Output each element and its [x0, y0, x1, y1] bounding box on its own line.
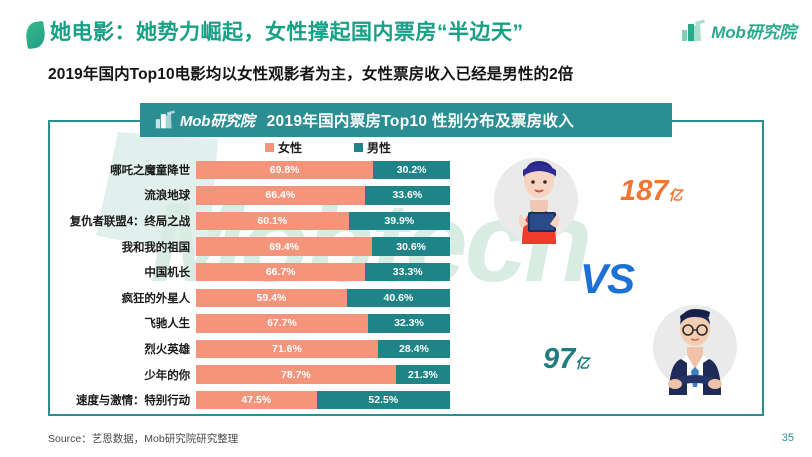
bar-segment-male: 30.2% [373, 161, 450, 180]
bar-segment-male: 40.6% [347, 289, 450, 308]
male-box-office-value: 97 [543, 343, 575, 375]
legend-label-male: 男性 [367, 139, 391, 156]
female-box-office-stat: 187亿 [620, 175, 682, 208]
page-number: 35 [782, 432, 794, 444]
bar-row-label: 复仇者联盟4：终局之战 [0, 213, 196, 229]
bar-row: 哪吒之魔童降世69.8%30.2% [0, 157, 812, 183]
banner-brand-label: Mob研究院 [180, 110, 255, 131]
bar-row-label: 烈火英雄 [0, 341, 196, 357]
bar-segment-female: 78.7% [196, 365, 396, 384]
bar-track: 66.7%33.3% [196, 263, 450, 282]
bar-row-label: 速度与激情：特别行动 [0, 392, 196, 408]
bar-segment-male: 21.3% [396, 365, 450, 384]
bar-row: 我和我的祖国69.4%30.6% [0, 234, 812, 260]
bar-row-label: 少年的你 [0, 367, 196, 383]
bar-row: 中国机长66.7%33.3% [0, 259, 812, 285]
vs-label: VS [580, 255, 634, 303]
chart-banner: Mob研究院 2019年国内票房Top10 性别分布及票房收入 [140, 103, 672, 137]
bar-row-label: 流浪地球 [0, 187, 196, 203]
page-subtitle: 2019年国内Top10电影均以女性观影者为主，女性票房收入已经是男性的2倍 [48, 62, 573, 84]
banner-connector-right [672, 120, 764, 122]
bar-segment-female: 47.5% [196, 391, 317, 410]
bar-track: 69.8%30.2% [196, 161, 450, 180]
legend-item-male: 男性 [354, 139, 391, 156]
bar-chart-graduation-cap-icon [154, 110, 176, 130]
bar-segment-male: 32.3% [368, 314, 450, 333]
bar-row: 复仇者联盟4：终局之战60.1%39.9% [0, 208, 812, 234]
chart-legend: 女性 男性 [201, 139, 455, 156]
bar-segment-male: 39.9% [349, 212, 450, 231]
bar-row: 流浪地球66.4%33.6% [0, 183, 812, 209]
bar-track: 47.5%52.5% [196, 391, 450, 410]
brand-logo-label: Mob研究院 [711, 18, 796, 43]
bar-track: 69.4%30.6% [196, 237, 450, 256]
bar-row-label: 飞驰人生 [0, 315, 196, 331]
slide-root: 她电影：她势力崛起，女性撑起国内票房“半边天” Mob研究院 2019年国内To… [0, 0, 812, 457]
bar-segment-female: 60.1% [196, 212, 349, 231]
brand-logo: Mob研究院 [680, 18, 796, 43]
bar-segment-male: 33.6% [365, 186, 450, 205]
banner-brand-logo: Mob研究院 [154, 110, 255, 131]
bar-track: 67.7%32.3% [196, 314, 450, 333]
bar-segment-female: 66.4% [196, 186, 365, 205]
bar-segment-female: 66.7% [196, 263, 365, 282]
bar-segment-male: 33.3% [365, 263, 450, 282]
bar-row-label: 我和我的祖国 [0, 239, 196, 255]
bar-row-label: 哪吒之魔童降世 [0, 162, 196, 178]
page-title: 她电影：她势力崛起，女性撑起国内票房“半边天” [50, 16, 524, 50]
banner-connector-left [48, 120, 144, 122]
bar-track: 78.7%21.3% [196, 365, 450, 384]
legend-label-female: 女性 [278, 139, 302, 156]
leaf-bullet-icon [24, 21, 46, 49]
male-box-office-unit: 亿 [575, 355, 589, 371]
legend-swatch-male [354, 143, 363, 152]
male-box-office-stat: 97亿 [543, 343, 589, 376]
bar-segment-male: 30.6% [372, 237, 450, 256]
man-in-suit-avatar-icon [645, 293, 741, 403]
bar-segment-female: 69.4% [196, 237, 372, 256]
bar-row-label: 疯狂的外星人 [0, 290, 196, 306]
legend-swatch-female [265, 143, 274, 152]
bar-track: 59.4%40.6% [196, 289, 450, 308]
female-box-office-unit: 亿 [668, 187, 682, 203]
bar-track: 60.1%39.9% [196, 212, 450, 231]
source-note: Source：艺恩数据，Mob研究院研究整理 [48, 431, 238, 446]
bar-segment-female: 67.7% [196, 314, 368, 333]
bar-track: 71.6%28.4% [196, 340, 450, 359]
chart-title: 2019年国内票房Top10 性别分布及票房收入 [267, 109, 574, 131]
bar-segment-male: 28.4% [378, 340, 450, 359]
legend-item-female: 女性 [265, 139, 302, 156]
woman-with-tablet-avatar-icon [492, 148, 588, 256]
bar-track: 66.4%33.6% [196, 186, 450, 205]
bar-segment-female: 71.6% [196, 340, 378, 359]
bar-segment-male: 52.5% [317, 391, 450, 410]
bar-row-label: 中国机长 [0, 264, 196, 280]
female-box-office-value: 187 [620, 175, 668, 207]
bar-chart-graduation-cap-icon [680, 19, 706, 43]
bar-segment-female: 59.4% [196, 289, 347, 308]
bar-segment-female: 69.8% [196, 161, 373, 180]
